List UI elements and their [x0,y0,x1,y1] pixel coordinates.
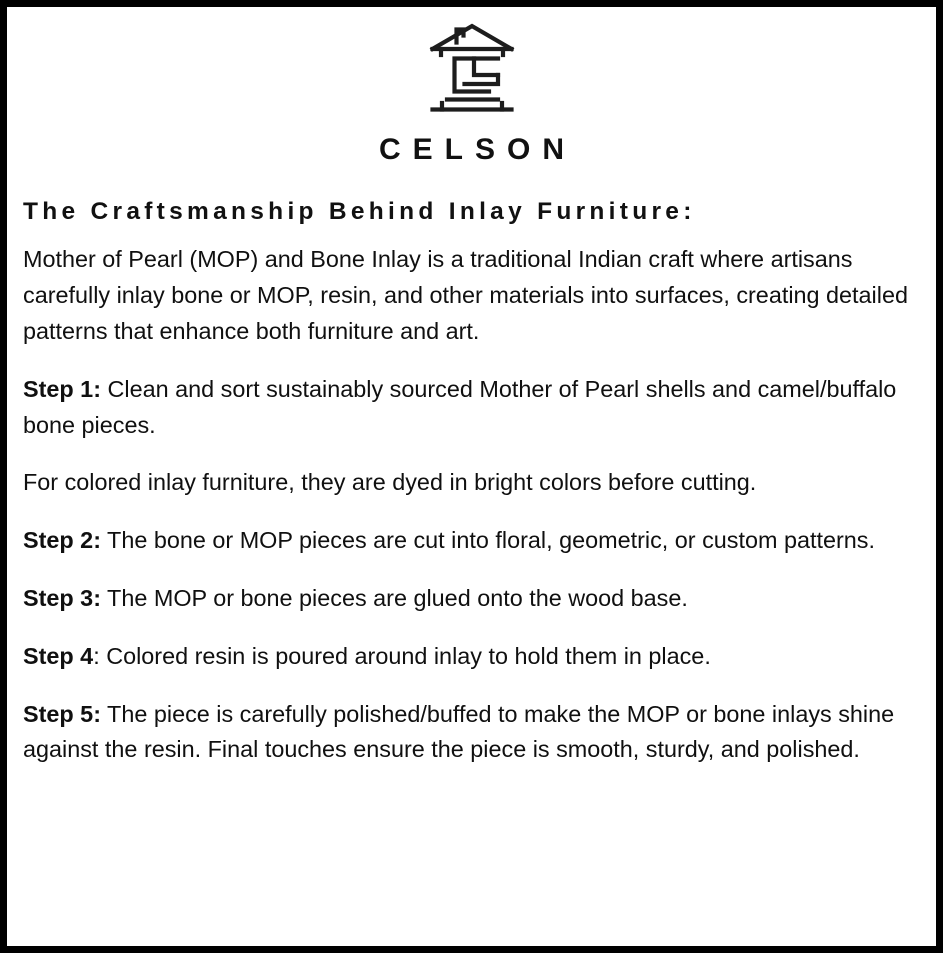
poster-inner: CELSON The Craftsmanship Behind Inlay Fu… [7,7,936,946]
step-5-paragraph: Step 5: The piece is carefully polished/… [23,697,926,769]
house-monogram-icon [426,21,518,121]
article-body: Mother of Pearl (MOP) and Bone Inlay is … [23,226,926,768]
page-title: The Craftsmanship Behind Inlay Furniture… [23,197,926,226]
step-4-label: Step 4 [23,643,93,669]
step-3-paragraph: Step 3: The MOP or bone pieces are glued… [23,581,926,617]
intro-text: Mother of Pearl (MOP) and Bone Inlay is … [23,246,908,344]
step-3-label: Step 3: [23,585,101,611]
step-2-label: Step 2: [23,527,101,553]
intro-paragraph: Mother of Pearl (MOP) and Bone Inlay is … [23,242,926,349]
dye-note-text: For colored inlay furniture, they are dy… [23,469,756,495]
step-4-text: : Colored resin is poured around inlay t… [93,643,711,669]
step-1-text: Clean and sort sustainably sourced Mothe… [23,376,896,438]
step-5-label: Step 5: [23,701,101,727]
step-2-text: The bone or MOP pieces are cut into flor… [101,527,875,553]
step-2-paragraph: Step 2: The bone or MOP pieces are cut i… [23,523,926,559]
dye-note-paragraph: For colored inlay furniture, they are dy… [23,465,926,501]
brand-block: CELSON [17,17,926,165]
brand-wordmark: CELSON [17,135,926,165]
step-1-paragraph: Step 1: Clean and sort sustainably sourc… [23,372,926,444]
poster-card: CELSON The Craftsmanship Behind Inlay Fu… [0,0,943,953]
step-4-paragraph: Step 4: Colored resin is poured around i… [23,639,926,675]
step-3-text: The MOP or bone pieces are glued onto th… [101,585,688,611]
step-1-label: Step 1: [23,376,101,402]
step-5-text: The piece is carefully polished/buffed t… [23,701,894,763]
